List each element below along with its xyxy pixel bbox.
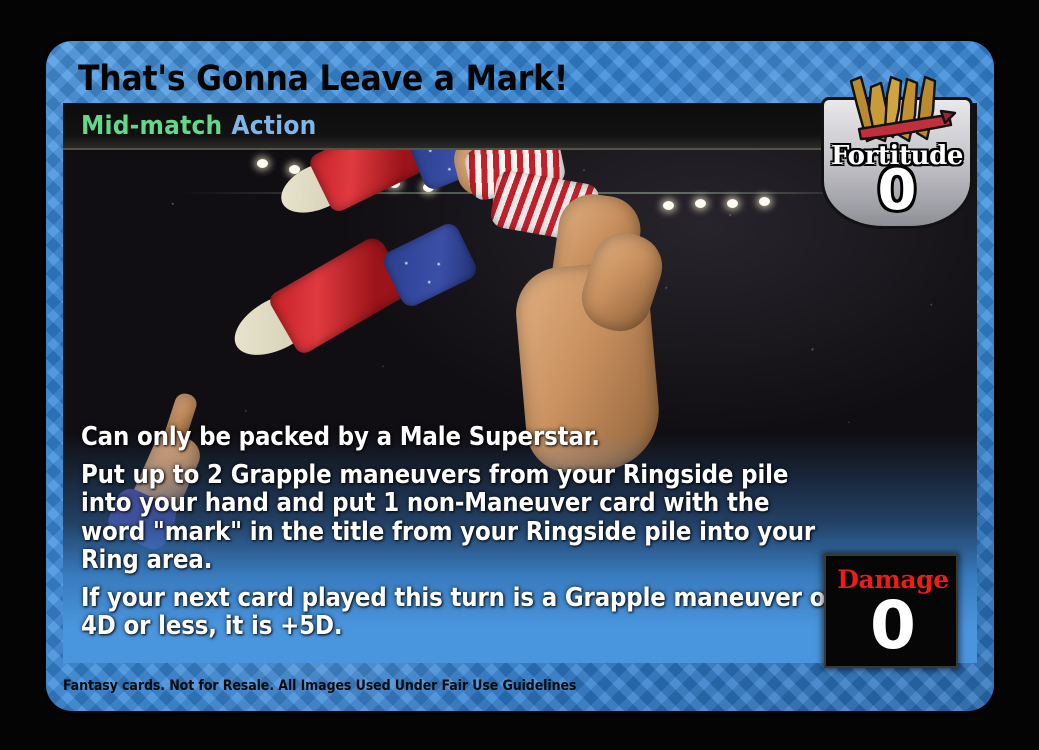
arena-light-icon (663, 201, 674, 210)
damage-box: Damage 0 (824, 554, 958, 668)
card-text-body: Can only be packed by a Male Superstar. … (81, 423, 841, 650)
card-type-bar: Mid-match Action (63, 104, 841, 150)
arena-light-icon (695, 199, 706, 208)
arena-light-icon (257, 159, 268, 168)
arena-light-icon (727, 199, 738, 208)
wwe-raw-deal-card: That's Gonna Leave a Mark! Mid-match Act… (46, 41, 994, 711)
arena-light-icon (759, 197, 770, 206)
damage-value: 0 (826, 592, 960, 660)
card-title: That's Gonna Leave a Mark! (78, 55, 818, 103)
screenshot-stage: That's Gonna Leave a Mark! Mid-match Act… (0, 0, 1039, 750)
copyright-footer: Fantasy cards. Not for Resale. All Image… (63, 678, 763, 694)
card-kind-label: Action (231, 111, 316, 141)
card-text-line: If your next card played this turn is a … (81, 584, 841, 641)
card-type-label: Mid-match (81, 111, 222, 141)
wwe-scratch-logo-icon (841, 75, 957, 153)
fortitude-value: 0 (821, 163, 973, 219)
fortitude-badge: Fortitude 0 (821, 79, 973, 229)
card-text-line: Put up to 2 Grapple maneuvers from your … (81, 461, 841, 575)
card-text-line: Can only be packed by a Male Superstar. (81, 423, 841, 452)
